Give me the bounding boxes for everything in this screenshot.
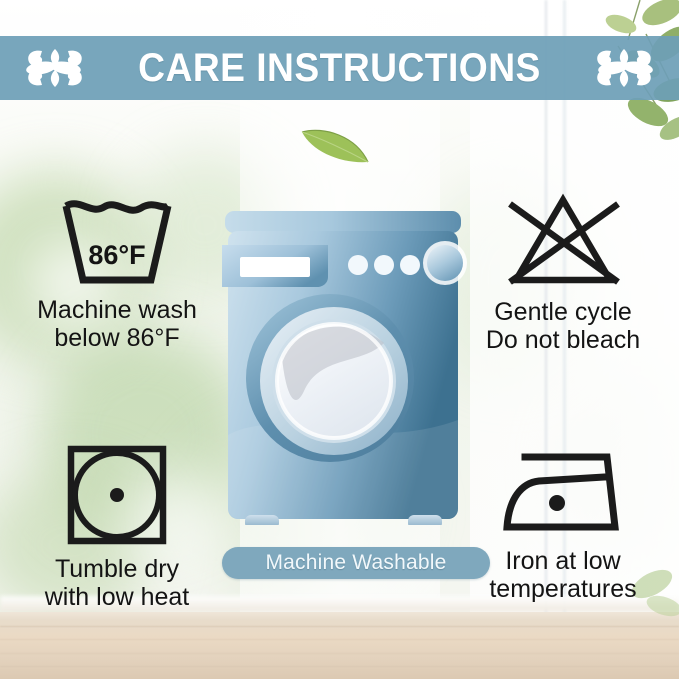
fleur-de-lis-icon	[593, 45, 655, 91]
machine-lid	[225, 211, 461, 233]
badge-label: Machine Washable	[265, 551, 446, 575]
indicator-dot	[400, 255, 420, 275]
care-label-no-bleach: Gentle cycle Do not bleach	[452, 298, 674, 354]
machine-washable-badge: Machine Washable	[222, 547, 490, 579]
iron-icon-wrap	[452, 445, 674, 539]
header-banner: CARE INSTRUCTIONS	[0, 36, 679, 100]
wash-temperature-value: 86°F	[58, 240, 176, 271]
care-symbol-iron: Iron at low temperatures	[452, 445, 674, 603]
indicator-dot	[348, 255, 368, 275]
care-label-machine-wash: Machine wash below 86°F	[8, 296, 226, 352]
leaf-accent-floating	[298, 122, 372, 168]
wood-table-surface	[0, 612, 679, 679]
page-title: CARE INSTRUCTIONS	[138, 46, 541, 91]
tumble-dry-square-icon-wrap	[8, 443, 226, 547]
control-knob	[427, 245, 463, 281]
care-symbol-no-bleach: Gentle cycle Do not bleach	[452, 190, 674, 354]
machine-foot	[408, 515, 442, 525]
care-symbol-machine-wash: 86°F Machine wash below 86°F	[8, 196, 226, 352]
washing-machine-illustration	[212, 205, 472, 525]
crossed-triangle-icon-wrap	[452, 190, 674, 290]
tumble-dry-square-icon	[65, 443, 169, 547]
fleur-de-lis-icon	[24, 45, 86, 91]
care-label-tumble-dry: Tumble dry with low heat	[8, 555, 226, 611]
drawer-handle	[240, 257, 310, 277]
iron-icon	[495, 445, 631, 539]
care-symbol-tumble-dry: Tumble dry with low heat	[8, 443, 226, 611]
machine-foot	[245, 515, 279, 525]
care-instructions-infographic: CARE INSTRUCTIONS 86°F	[0, 0, 679, 679]
wash-tub-icon-wrap: 86°F	[8, 196, 226, 288]
crossed-triangle-icon	[488, 190, 638, 290]
indicator-dot	[374, 255, 394, 275]
